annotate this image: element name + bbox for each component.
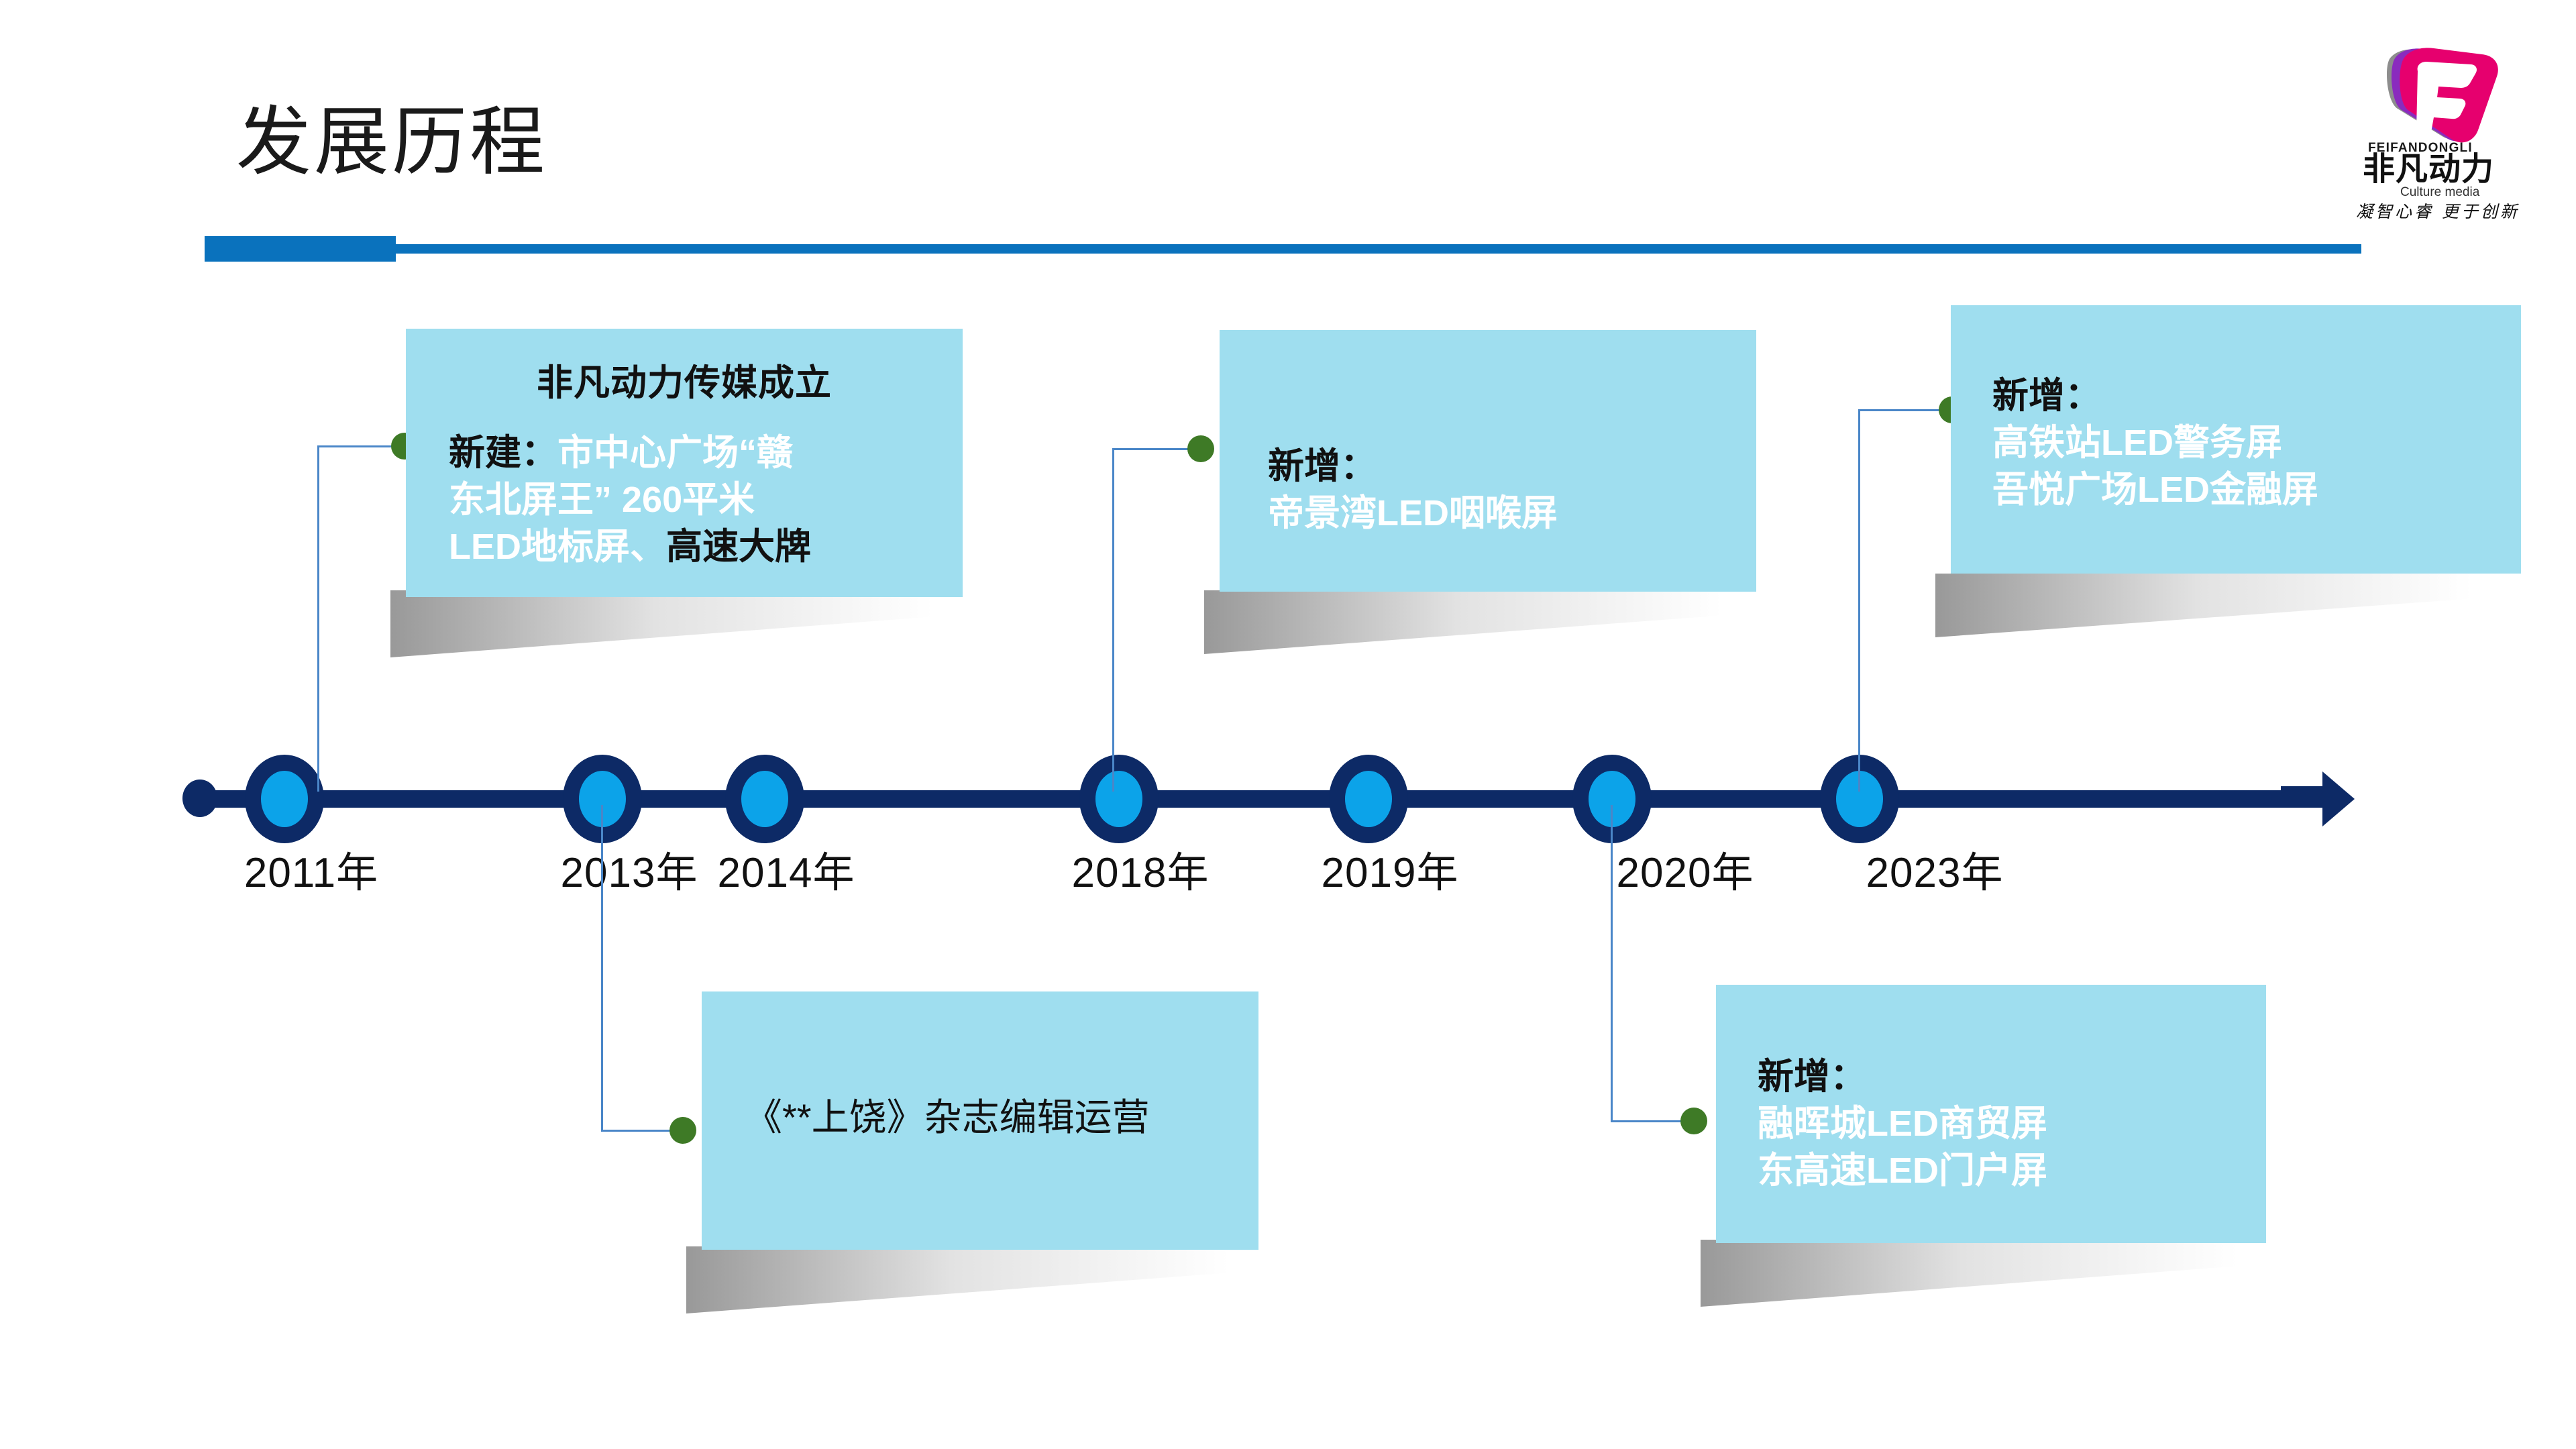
year-label-2013: 2013年 bbox=[561, 839, 698, 899]
year-label-2019: 2019年 bbox=[1322, 839, 1459, 899]
card-2020-line-1: 新增： bbox=[1758, 1053, 2250, 1100]
title-underline-rule bbox=[396, 244, 2361, 254]
card-2011-line-1: 新建：市中心广场“赣 bbox=[449, 429, 943, 476]
timeline-axis bbox=[188, 790, 2314, 808]
slide-canvas: 发展历程 FEIFANDONGLI 非凡动力 Culture media 凝智心… bbox=[0, 0, 2576, 1449]
card-shadow-2013 bbox=[686, 1246, 1277, 1313]
card-2020-line-3: 东高速LED门户屏 bbox=[1758, 1147, 2250, 1194]
logo-subtitle: Culture media bbox=[2400, 185, 2480, 199]
card-shadow-2011 bbox=[390, 590, 981, 657]
logo-magenta-layer bbox=[2400, 48, 2498, 142]
connector-dot-2020 bbox=[1680, 1108, 1707, 1134]
logo-name-cn: 非凡动力 bbox=[2363, 152, 2494, 187]
page-title: 发展历程 bbox=[236, 101, 547, 183]
card-shadow-2018 bbox=[1204, 590, 1768, 654]
timeline-arrow-icon bbox=[2281, 766, 2355, 833]
card-2013[interactable]: 《**上饶》杂志编辑运营 bbox=[702, 991, 1258, 1250]
card-2020-line-2: 融晖城LED商贸屏 bbox=[1758, 1100, 2250, 1147]
timeline-node-2018[interactable] bbox=[1079, 755, 1159, 843]
card-shadow-2023 bbox=[1935, 574, 2519, 637]
connector-dot-2013 bbox=[669, 1117, 696, 1144]
card-2018[interactable]: 新增： 帝景湾LED咽喉屏 bbox=[1220, 330, 1756, 592]
year-label-2020: 2020年 bbox=[1617, 839, 1754, 899]
card-shadow-2020 bbox=[1701, 1240, 2284, 1307]
year-label-2018: 2018年 bbox=[1072, 839, 1210, 899]
year-label-2011: 2011年 bbox=[244, 839, 378, 899]
company-logo: FEIFANDONGLI 非凡动力 Culture media 凝智心睿 更于创… bbox=[2348, 27, 2549, 221]
year-label-2014: 2014年 bbox=[718, 839, 855, 899]
connector-dot-2018 bbox=[1187, 435, 1214, 462]
card-2018-line-1: 新增： bbox=[1268, 443, 1736, 490]
card-2023[interactable]: 新增： 高铁站LED警务屏 吾悦广场LED金融屏 bbox=[1951, 305, 2521, 574]
card-2020-body: 新增： 融晖城LED商贸屏 东高速LED门户屏 bbox=[1716, 1053, 2266, 1195]
card-2013-body: 《**上饶》杂志编辑运营 bbox=[702, 1093, 1258, 1142]
card-2011-line-2: 东北屏王” 260平米 bbox=[449, 476, 943, 523]
title-underline-block bbox=[205, 236, 396, 262]
timeline-node-2014[interactable] bbox=[725, 755, 804, 843]
card-2011-line-3: LED地标屏、高速大牌 bbox=[449, 523, 943, 570]
card-2020[interactable]: 新增： 融晖城LED商贸屏 东高速LED门户屏 bbox=[1716, 985, 2266, 1243]
card-2023-line-1: 新增： bbox=[1992, 372, 2505, 419]
card-2018-body: 新增： 帝景湾LED咽喉屏 bbox=[1220, 443, 1756, 537]
card-2018-line-2: 帝景湾LED咽喉屏 bbox=[1268, 490, 1736, 537]
card-2011-title: 非凡动力传媒成立 bbox=[406, 361, 963, 407]
year-label-2023: 2023年 bbox=[1866, 839, 2004, 899]
timeline-node-2011[interactable] bbox=[245, 755, 324, 843]
card-2013-line-1: 《**上饶》杂志编辑运营 bbox=[745, 1093, 1242, 1142]
timeline-start-dot bbox=[182, 780, 217, 817]
card-2023-line-2: 高铁站LED警务屏 bbox=[1992, 419, 2505, 466]
timeline-node-2019[interactable] bbox=[1329, 755, 1408, 843]
card-2023-body: 新增： 高铁站LED警务屏 吾悦广场LED金融屏 bbox=[1951, 372, 2521, 514]
logo-tagline: 凝智心睿 更于创新 bbox=[2356, 202, 2520, 221]
card-2011-body: 新建：市中心广场“赣 东北屏王” 260平米 LED地标屏、高速大牌 bbox=[406, 429, 963, 571]
card-2011[interactable]: 非凡动力传媒成立 新建：市中心广场“赣 东北屏王” 260平米 LED地标屏、高… bbox=[406, 329, 963, 597]
card-2023-line-3: 吾悦广场LED金融屏 bbox=[1992, 466, 2505, 513]
